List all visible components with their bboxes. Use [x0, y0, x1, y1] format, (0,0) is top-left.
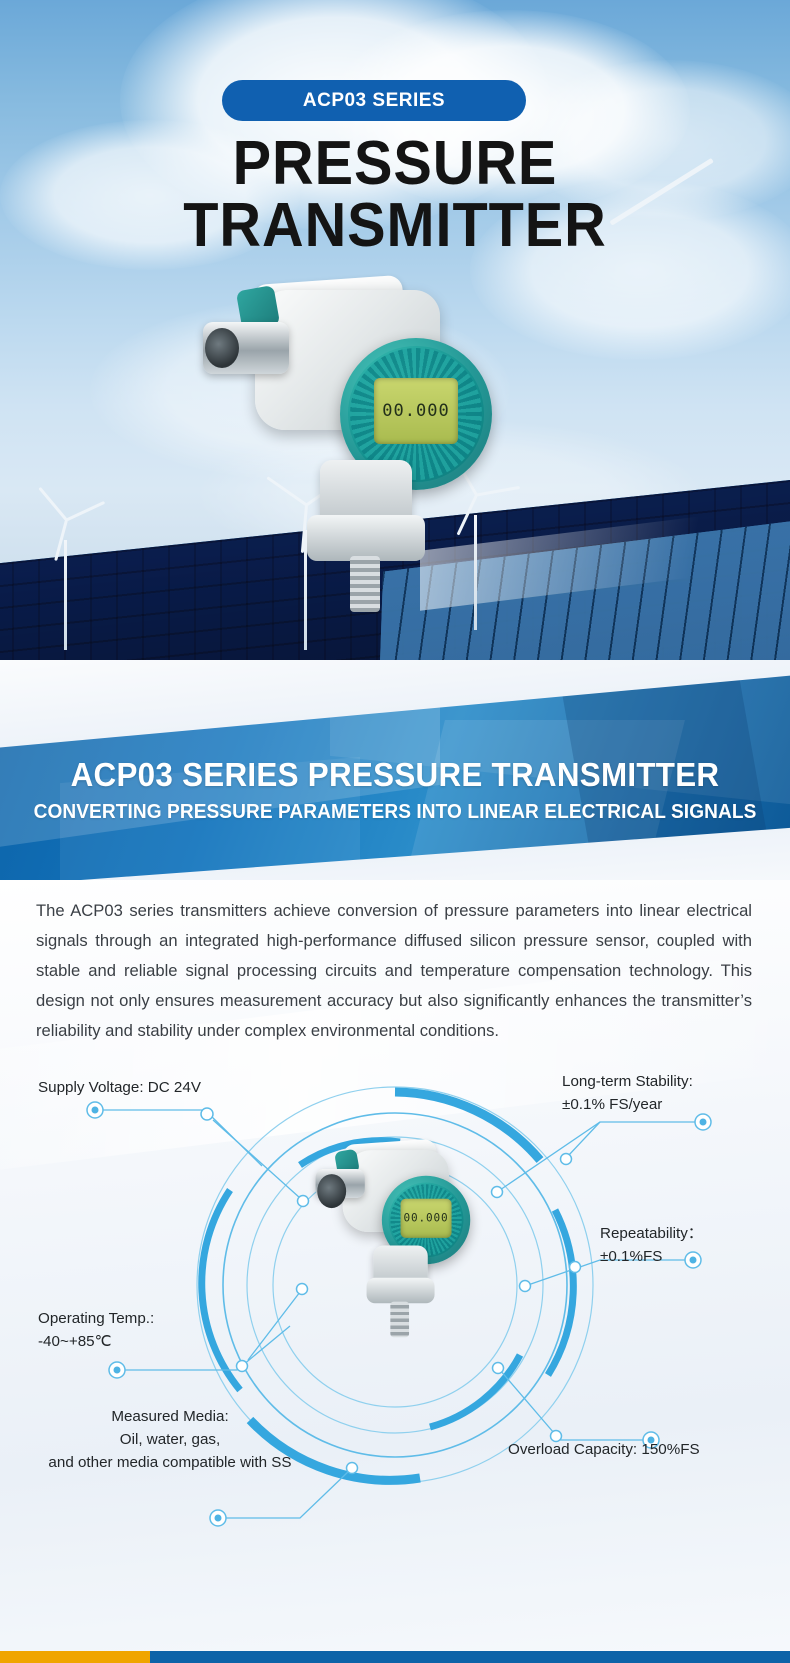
description-paragraph: The ACP03 series transmitters achieve co… [36, 896, 752, 1046]
spec-label-repeatability: Repeatability： ±0.1%FS [600, 1222, 780, 1268]
product-flange [307, 515, 425, 561]
product-process-thread [390, 1302, 409, 1338]
spec-label-supply-voltage: Supply Voltage: DC 24V [38, 1076, 268, 1099]
banner-heading: ACP03 SERIES PRESSURE TRANSMITTER [20, 756, 771, 794]
spec-label-long-term-stability: Long-term Stability: ±0.1% FS/year [562, 1070, 777, 1116]
hero-series-badge: ACP03 SERIES [222, 80, 526, 121]
product-cable-gland [203, 322, 289, 374]
footer-accent-bar [0, 1651, 790, 1663]
product-process-thread [350, 556, 380, 612]
spec-label-overload-capacity: Overload Capacity: 150%FS [508, 1438, 788, 1461]
product-lcd-display: 00.000 [374, 378, 458, 444]
product-page: ACP03 SERIES PRESSURE TRANSMITTER 00.000… [0, 0, 790, 1663]
banner-subheading: CONVERTING PRESSURE PARAMETERS INTO LINE… [28, 800, 763, 824]
hero-title: PRESSURE TRANSMITTER [28, 133, 763, 257]
product-cable-gland [316, 1169, 365, 1198]
product-photo-hero: 00.000 [195, 260, 575, 640]
wind-turbine-icon [20, 520, 110, 650]
hero-section: ACP03 SERIES PRESSURE TRANSMITTER 00.000 [0, 0, 790, 700]
product-lcd-display: 00.000 [401, 1199, 452, 1238]
section-description: The ACP03 series transmitters achieve co… [0, 880, 790, 1663]
footer-accent-blue [150, 1651, 790, 1663]
spec-diagram: .ring-thin { fill:none; stroke:#8FD0EE; … [0, 1070, 790, 1570]
hero-series-badge-label: ACP03 SERIES [303, 90, 445, 112]
product-flange [367, 1278, 435, 1304]
section-banner: ACP03 SERIES PRESSURE TRANSMITTER CONVER… [0, 660, 790, 890]
footer-accent-orange [0, 1651, 150, 1663]
spec-label-operating-temp: Operating Temp.: -40~+85℃ [38, 1307, 218, 1353]
spec-label-measured-media: Measured Media: Oil, water, gas, and oth… [20, 1405, 320, 1474]
product-photo-diagram: 00.000 [317, 1135, 479, 1369]
